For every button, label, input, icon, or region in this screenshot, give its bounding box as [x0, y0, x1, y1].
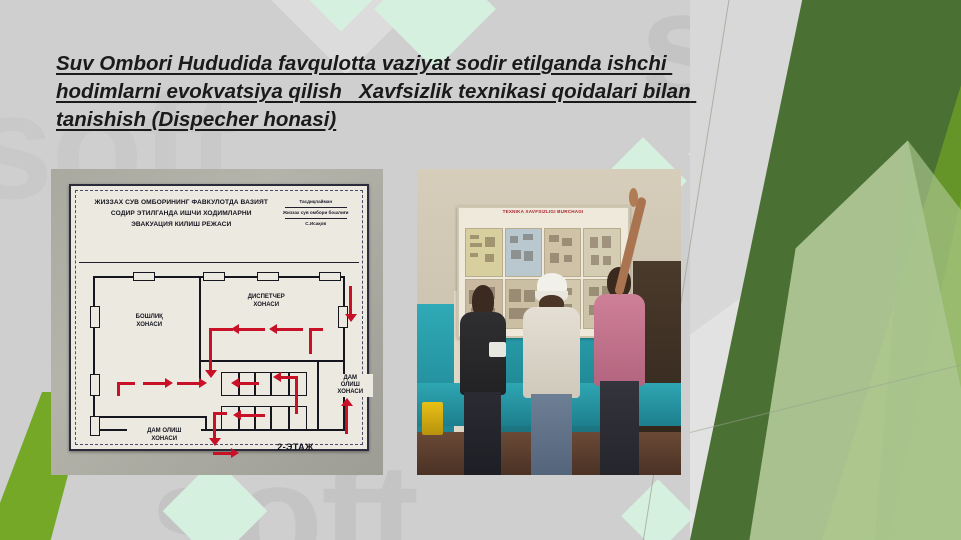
evacuation-arrow-head — [269, 324, 277, 334]
board-panel — [465, 228, 502, 277]
plan-window — [319, 272, 341, 281]
torso — [594, 294, 645, 386]
evacuation-arrow-head — [231, 448, 239, 458]
evacuation-arrow — [213, 452, 231, 455]
approval-org: Жиззах сув омбори бошлиғи — [283, 210, 349, 215]
decorative-hairline — [690, 355, 961, 433]
decorative-green-wedge-pale — [690, 0, 961, 540]
presentation-slide: soft soft soft soft Suv Ombori Hududida … — [0, 0, 961, 540]
plan-wall — [199, 276, 201, 360]
pointing-hand — [629, 188, 639, 207]
plan-window — [203, 272, 225, 281]
plan-wall — [317, 360, 344, 362]
evacuation-arrow — [143, 382, 165, 385]
decorative-green-wedge-mid — [690, 0, 961, 540]
evacuation-arrow — [117, 382, 135, 385]
worker-black-shirt — [451, 285, 514, 475]
evacuation-arrow — [295, 376, 298, 414]
evacuation-arrow — [239, 328, 265, 331]
evacuation-arrow — [177, 382, 199, 385]
plan-title-line-3: ЭВАКУАЦИЯ КИЛИШ РЕЖАСИ — [83, 219, 279, 230]
plan-title-line-2: СОДИР ЭТИЛГАНДА ИШЧИ ХОДИМЛАРНИ — [83, 208, 279, 219]
plan-window — [90, 374, 100, 396]
decorative-green-wedge-bright — [690, 0, 961, 540]
plan-wall — [317, 360, 319, 431]
decorative-mint-diamond — [818, 460, 875, 517]
evacuation-arrow — [309, 328, 323, 331]
approval-rule — [285, 218, 347, 219]
torso — [523, 307, 581, 398]
evacuation-arrow-head — [209, 438, 221, 446]
plan-title-line-1: ЖИЗЗАХ СУВ ОМБОРИНИНГ ФАВКУЛОТДА ВАЗИЯТ — [83, 197, 279, 208]
watermark-text: soft — [790, 300, 961, 473]
decorative-mint-diamond — [688, 114, 767, 193]
worker-pink-shirt — [586, 267, 655, 475]
yellow-canister — [422, 402, 443, 436]
plan-wall — [205, 416, 207, 431]
decorative-green-wedge-pale — [690, 0, 961, 540]
decorative-mint-diamond — [621, 479, 695, 540]
plan-room-label: ДИСПЕТЧЕР ХОНАСИ — [231, 292, 301, 310]
plan-wall — [199, 360, 317, 362]
board-panel — [544, 228, 581, 277]
slide-title: Suv Ombori Hududida favqulotta vaziyat s… — [56, 50, 696, 134]
evacuation-arrow — [213, 412, 216, 438]
evacuation-arrow — [277, 328, 303, 331]
evacuation-arrow-head — [165, 378, 173, 388]
evacuation-arrow — [237, 382, 259, 385]
approval-word: Тасдиқлайман — [299, 199, 332, 204]
plan-room-label: ДАМ ОЛИШ ХОНАСИ — [127, 426, 201, 444]
evacuation-arrow-head — [205, 370, 217, 378]
evacuation-arrow — [241, 414, 265, 417]
decorative-mint-diamond — [308, 0, 373, 32]
decorative-grey-wedge — [690, 0, 961, 540]
board-title: TEXNIKA XAVFSIZLIGI BURCHAGI — [459, 209, 628, 214]
decorative-grey-wedge — [690, 0, 961, 540]
plan-window — [257, 272, 279, 281]
evacuation-arrow-head — [341, 398, 353, 406]
evacuation-arrow-head — [345, 314, 357, 322]
safety-briefing-photo: TEXNIKA XAVFSIZLIGI BURCHAGI — [417, 169, 681, 475]
plan-header: ЖИЗЗАХ СУВ ОМБОРИНИНГ ФАВКУЛОТДА ВАЗИЯТ … — [79, 194, 358, 263]
room-scene: TEXNIKA XAVFSIZLIGI BURCHAGI — [417, 169, 681, 475]
plan-window — [90, 416, 100, 436]
sleeve-stripe — [489, 342, 505, 357]
board-panel — [505, 228, 542, 277]
evacuation-arrow — [209, 328, 233, 331]
evacuation-arrow — [345, 406, 348, 434]
evacuation-plan-sheet: ЖИЗЗАХ СУВ ОМБОРИНИНГ ФАВКУЛОТДА ВАЗИЯТ … — [69, 184, 368, 451]
plan-wall — [95, 416, 207, 418]
plan-approval-block: Тасдиқлайман Жиззах сув омбори бошлиғи С… — [275, 198, 357, 228]
evacuation-arrow — [349, 286, 352, 314]
approval-name: С.Исақов — [305, 221, 326, 226]
evacuation-arrow — [279, 376, 297, 379]
evacuation-arrow-head — [273, 372, 281, 382]
evacuation-arrow-head — [233, 410, 241, 420]
evacuation-arrow — [213, 412, 227, 415]
plan-window — [90, 306, 100, 328]
plan-floorplan: БОШЛИҚ ХОНАСИ ДИСПЕТЧЕР ХОНАСИ ДАМ ОЛИШ … — [81, 266, 356, 439]
evacuation-arrow-head — [199, 378, 207, 388]
worker-white-shirt — [517, 273, 586, 475]
evacuation-plan-photo: ЖИЗЗАХ СУВ ОМБОРИНИНГ ФАВКУЛОТДА ВАЗИЯТ … — [51, 169, 383, 475]
plan-window — [133, 272, 155, 281]
evacuation-arrow-head — [231, 378, 239, 388]
evacuation-arrow — [209, 328, 212, 370]
legs — [600, 381, 640, 475]
evacuation-arrow-head — [231, 324, 239, 334]
decorative-green-wedge-dark — [690, 0, 961, 540]
plan-wall — [93, 276, 95, 431]
plan-room-label: БОШЛИҚ ХОНАСИ — [121, 312, 177, 330]
approval-rule — [285, 207, 347, 208]
legs — [464, 392, 501, 475]
evacuation-arrow — [309, 328, 312, 354]
plan-room-label: ДАМ ОЛИШ ХОНАСИ — [327, 374, 373, 397]
plan-floor-label: 2-ЭТАЖ — [277, 442, 313, 452]
legs — [531, 394, 572, 475]
